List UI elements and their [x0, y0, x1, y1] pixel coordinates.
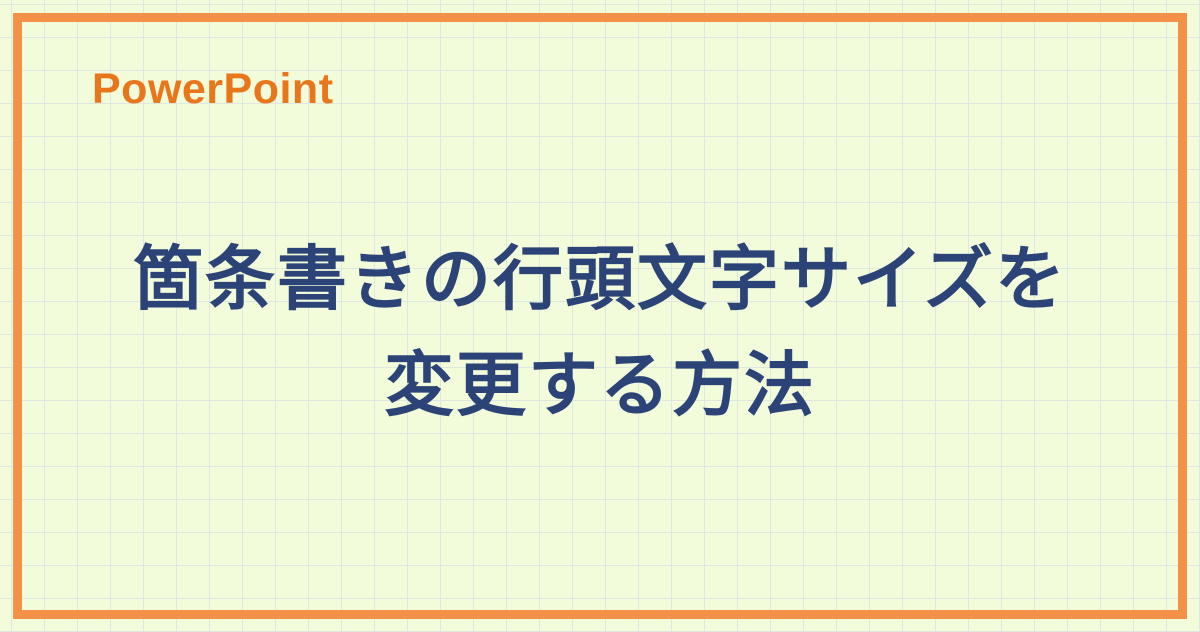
slide-content: PowerPoint 箇条書きの行頭文字サイズを 変更する方法: [0, 0, 1200, 632]
category-label-powerpoint: PowerPoint: [92, 68, 334, 111]
page-title: 箇条書きの行頭文字サイズを 変更する方法: [0, 226, 1200, 438]
page-title-line-2: 変更する方法: [0, 332, 1200, 438]
slide-canvas: PowerPoint 箇条書きの行頭文字サイズを 変更する方法: [0, 0, 1200, 632]
page-title-line-1: 箇条書きの行頭文字サイズを: [0, 226, 1200, 332]
